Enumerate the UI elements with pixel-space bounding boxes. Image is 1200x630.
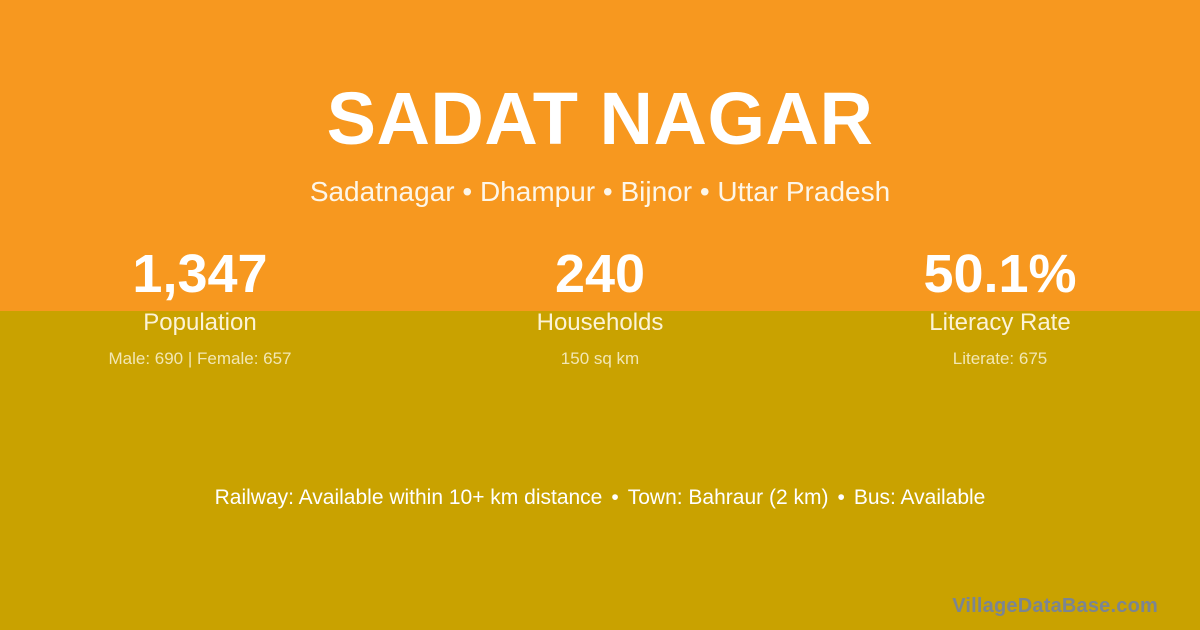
stat-sub-detail: 150 sq km — [400, 350, 800, 367]
card-header: SADAT NAGAR Sadatnagar • Dhampur • Bijno… — [0, 0, 1200, 206]
stat-value: 1,347 — [0, 246, 400, 303]
stat-sub-detail: Male: 690 | Female: 657 — [0, 350, 400, 367]
stat-sub-detail: Literate: 675 — [800, 350, 1200, 367]
railway-info: Railway: Available within 10+ km distanc… — [215, 486, 603, 509]
stat-value: 50.1% — [800, 246, 1200, 303]
breadcrumb: Sadatnagar • Dhampur • Bijnor • Uttar Pr… — [0, 178, 1200, 206]
stat-population: 1,347 Population Male: 690 | Female: 657 — [0, 246, 400, 367]
separator-bullet-icon: • — [828, 487, 853, 508]
bus-info: Bus: Available — [854, 486, 986, 509]
separator-bullet-icon: • — [602, 487, 627, 508]
stat-literacy-rate: 50.1% Literacy Rate Literate: 675 — [800, 246, 1200, 367]
stat-label: Households — [400, 311, 800, 335]
site-brand-watermark: VillageDataBase.com — [952, 596, 1158, 616]
amenities-info-line: Railway: Available within 10+ km distanc… — [0, 487, 1200, 508]
stat-value: 240 — [400, 246, 800, 303]
page-title: SADAT NAGAR — [0, 82, 1200, 156]
stat-label: Literacy Rate — [800, 311, 1200, 335]
stat-households: 240 Households 150 sq km — [400, 246, 800, 367]
village-info-card: SADAT NAGAR Sadatnagar • Dhampur • Bijno… — [0, 0, 1200, 630]
town-info: Town: Bahraur (2 km) — [628, 486, 829, 509]
stat-label: Population — [0, 311, 400, 335]
stats-row: 1,347 Population Male: 690 | Female: 657… — [0, 246, 1200, 367]
